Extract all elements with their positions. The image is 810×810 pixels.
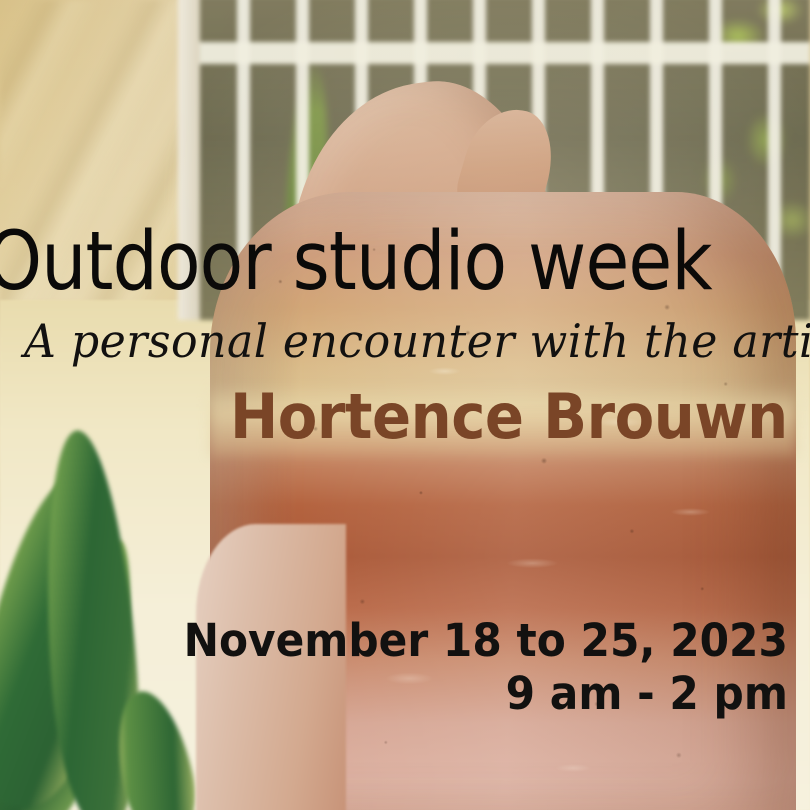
poster-subtitle: A personal encounter with the artist <box>24 318 779 364</box>
event-schedule: November 18 to 25, 2023 9 am - 2 pm <box>184 614 788 720</box>
event-date-range: November 18 to 25, 2023 <box>184 614 788 667</box>
artist-name: Hortence Brouwn <box>230 386 788 448</box>
event-time-range: 9 am - 2 pm <box>184 667 788 720</box>
event-poster: Outdoor studio week A personal encounter… <box>0 0 810 810</box>
poster-title: Outdoor studio week <box>0 222 711 303</box>
poster-text: Outdoor studio week A personal encounter… <box>0 0 810 810</box>
